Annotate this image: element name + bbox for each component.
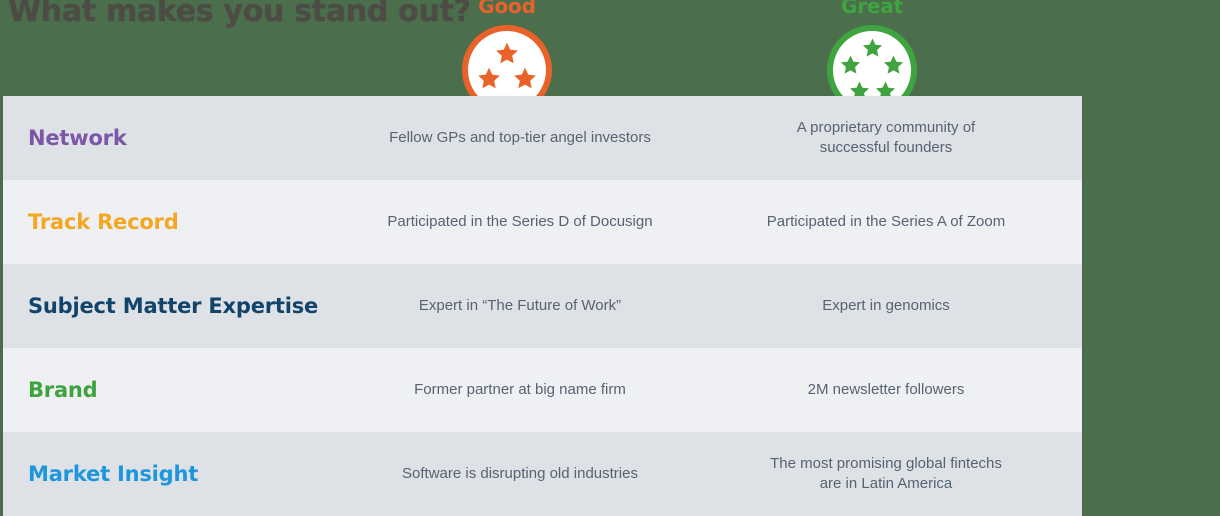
column-header-good-label: Good (407, 0, 607, 21)
row-good-track-record: Participated in the Series D of Docusign (355, 212, 685, 232)
table-row: Track Record Participated in the Series … (3, 180, 1082, 264)
row-good-brand: Former partner at big name firm (355, 380, 685, 400)
row-good-network: Fellow GPs and top-tier angel investors (355, 128, 685, 148)
row-label-brand: Brand (3, 378, 343, 402)
row-great-track-record: Participated in the Series A of Zoom (721, 212, 1051, 232)
row-good-market-insight: Software is disrupting old industries (355, 464, 685, 484)
row-label-subject-matter-expertise: Subject Matter Expertise (3, 294, 343, 318)
row-great-network: A proprietary community ofsuccessful fou… (721, 118, 1051, 158)
table-row: Brand Former partner at big name firm 2M… (3, 348, 1082, 432)
row-great-market-insight: The most promising global fintechsare in… (721, 454, 1051, 494)
table-row: Subject Matter Expertise Expert in “The … (3, 264, 1082, 348)
row-label-market-insight: Market Insight (3, 462, 343, 486)
row-label-track-record: Track Record (3, 210, 343, 234)
page-title: What makes you stand out? (8, 0, 471, 29)
row-great-brand: 2M newsletter followers (721, 380, 1051, 400)
comparison-table: Network Fellow GPs and top-tier angel in… (3, 96, 1082, 516)
table-row: Market Insight Software is disrupting ol… (3, 432, 1082, 516)
row-good-subject-matter-expertise: Expert in “The Future of Work” (355, 296, 685, 316)
table-row: Network Fellow GPs and top-tier angel in… (3, 96, 1082, 180)
row-great-subject-matter-expertise: Expert in genomics (721, 296, 1051, 316)
column-header-great-label: Great (772, 0, 972, 21)
row-label-network: Network (3, 126, 343, 150)
